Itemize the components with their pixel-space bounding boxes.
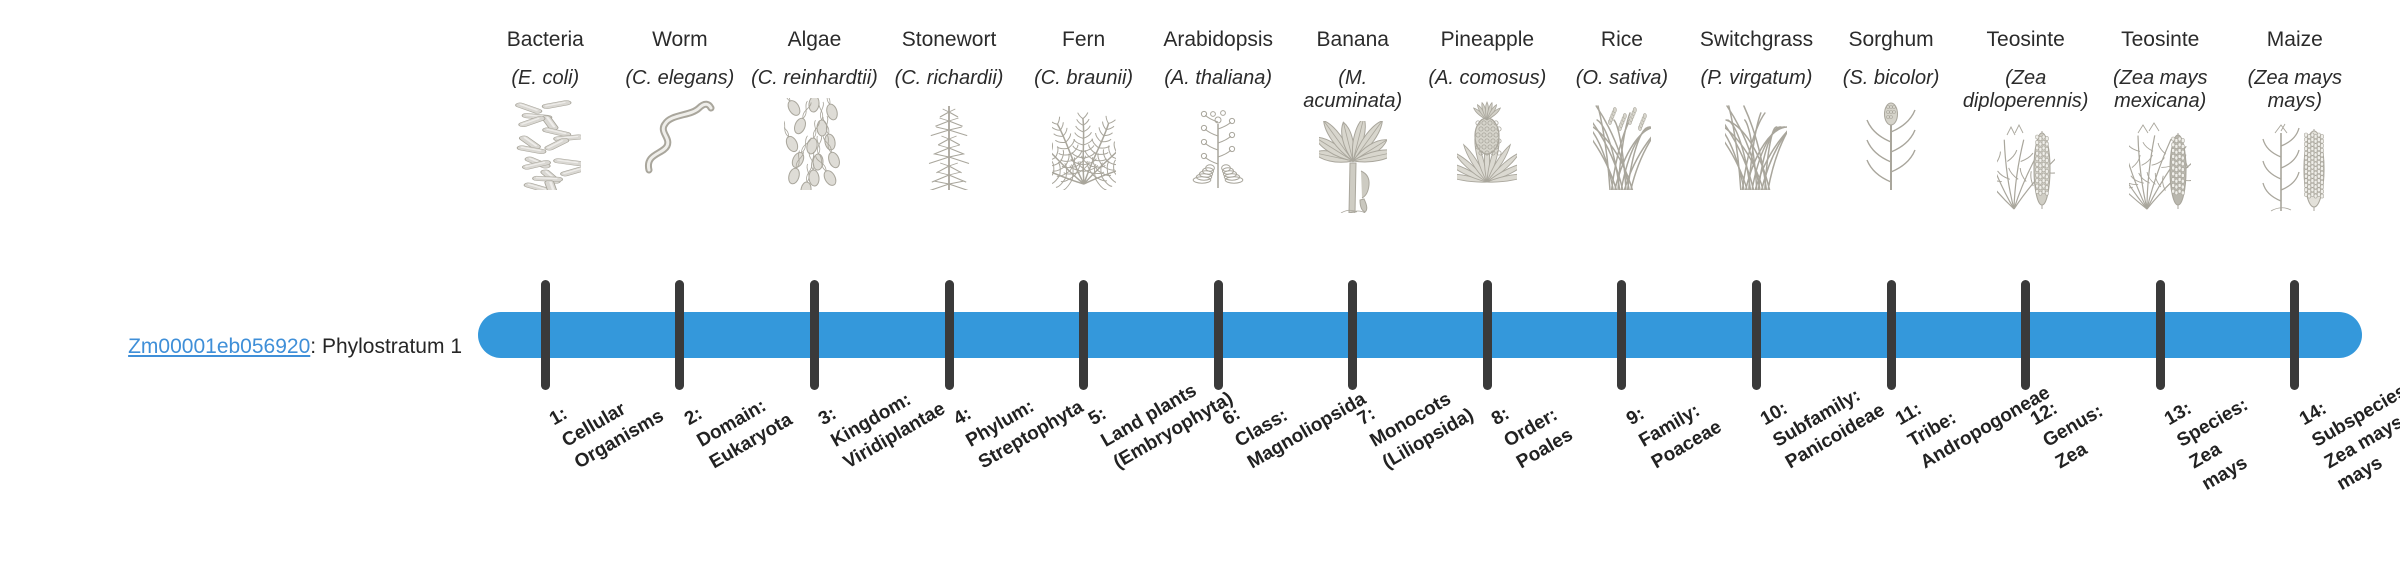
taxonomy-slot-9: 9:Family:Poaceae: [1555, 404, 1690, 580]
species-scientific-name: (P. virgatum): [1701, 67, 1813, 90]
switchgrass-illustration: [1725, 98, 1787, 190]
taxonomy-slot-13: 13:Species:Zeamays: [2093, 404, 2228, 580]
banana-plant-illustration: [1319, 121, 1387, 213]
species-column-algae-3: Algae(C. reinhardtii): [747, 28, 882, 298]
timeline-tick-3[interactable]: [810, 280, 819, 390]
pineapple-plant-illustration: [1457, 98, 1517, 190]
taxonomy-slot-3: 3:Kingdom:Viridiplantae: [747, 404, 882, 580]
timeline-tick-5[interactable]: [1079, 280, 1088, 390]
timeline-tick-2[interactable]: [675, 280, 684, 390]
timeline-tick-13[interactable]: [2156, 280, 2165, 390]
species-column-teosinte-12: Teosinte(Zea diploperennis): [1958, 28, 2093, 298]
teosinte-diploperennis-illustration: [1997, 121, 2055, 213]
species-scientific-name: (Zea mays mexicana): [2095, 67, 2225, 113]
tick-slot-3: [747, 280, 882, 390]
taxonomy-slot-2: 2:Domain:Eukaryota: [613, 404, 748, 580]
species-scientific-name: (C. reinhardtii): [751, 67, 878, 90]
nematode-worm-illustration: [641, 98, 719, 190]
bacteria-illustration: [509, 98, 581, 190]
species-common-name: Banana: [1317, 28, 1389, 56]
taxonomy-slot-4: 4:Phylum:Streptophyta: [882, 404, 1017, 580]
gene-id-link[interactable]: Zm00001eb056920: [128, 335, 310, 358]
arabidopsis-illustration: [1188, 98, 1248, 190]
green-algae-illustration: [784, 98, 844, 190]
timeline-tick-11[interactable]: [1887, 280, 1896, 390]
species-scientific-name: (S. bicolor): [1843, 67, 1940, 90]
taxonomy-slot-10: 10:Subfamily:Panicoideae: [1689, 404, 1824, 580]
taxonomy-slot-7: 7:Monocots(Liliopsida): [1285, 404, 1420, 580]
phylostratum-value: Phylostratum 1: [322, 335, 462, 358]
species-column-worm-2: Worm(C. elegans): [613, 28, 748, 298]
tick-slot-14: [2228, 280, 2363, 390]
timeline-tick-14[interactable]: [2290, 280, 2299, 390]
taxonomy-slot-11: 11:Tribe:Andropogoneae: [1824, 404, 1959, 580]
tick-slot-1: [478, 280, 613, 390]
species-scientific-name: (E. coli): [511, 67, 579, 90]
species-column-bacteria-1: Bacteria(E. coli): [478, 28, 613, 298]
tick-slot-13: [2093, 280, 2228, 390]
species-scientific-name: (M. acuminata): [1288, 67, 1418, 113]
species-column-banana-7: Banana(M. acuminata): [1285, 28, 1420, 298]
species-common-name: Arabidopsis: [1163, 28, 1273, 56]
species-scientific-name: (C. richardii): [895, 67, 1004, 90]
timeline-tick-1[interactable]: [541, 280, 550, 390]
gene-label-separator: :: [310, 335, 322, 358]
gene-phylostratum-label: Zm00001eb056920: Phylostratum 1: [0, 334, 462, 360]
species-scientific-name: (C. elegans): [625, 67, 734, 90]
species-column-teosinte-13: Teosinte(Zea mays mexicana): [2093, 28, 2228, 298]
species-common-name: Worm: [652, 28, 708, 56]
species-common-name: Algae: [788, 28, 842, 56]
species-scientific-name: (C. braunii): [1034, 67, 1133, 90]
species-scientific-name: (O. sativa): [1576, 67, 1668, 90]
species-column-maize-14: Maize(Zea mays mays): [2228, 28, 2363, 298]
taxonomy-slot-14: 14:Subspecies:Zea maysmays: [2228, 404, 2363, 580]
species-common-name: Switchgrass: [1700, 28, 1813, 56]
phylostratum-timeline-figure: Zm00001eb056920: Phylostratum 1 Bacteria…: [0, 0, 2400, 580]
taxonomy-slot-12: 12:Genus:Zea: [1958, 404, 2093, 580]
taxonomy-slot-6: 6:Class:Magnoliopsida: [1151, 404, 1286, 580]
species-common-name: Teosinte: [1987, 28, 2065, 56]
species-common-name: Teosinte: [2121, 28, 2199, 56]
tick-slot-10: [1689, 280, 1824, 390]
taxonomy-slot-5: 5:Land plants(Embryophyta): [1016, 404, 1151, 580]
species-column-arabidopsis-6: Arabidopsis(A. thaliana): [1151, 28, 1286, 298]
rice-plant-illustration: [1593, 98, 1651, 190]
timeline-tick-9[interactable]: [1617, 280, 1626, 390]
species-common-name: Maize: [2267, 28, 2323, 56]
maize-plant-and-ear-illustration: [2261, 121, 2329, 213]
species-common-name: Bacteria: [507, 28, 584, 56]
taxonomy-rank-row: 1:CellularOrganisms2:Domain:Eukaryota3:K…: [478, 404, 2362, 580]
species-scientific-name: (A. comosus): [1428, 67, 1546, 90]
sorghum-plant-illustration: [1861, 98, 1921, 190]
phylostratum-timeline: [478, 312, 2362, 358]
species-column-fern-5: Fern(C. braunii): [1016, 28, 1151, 298]
species-scientific-name: (A. thaliana): [1164, 67, 1272, 90]
species-column-stonewort-4: Stonewort(C. richardii): [882, 28, 1017, 298]
taxonomy-slot-1: 1:CellularOrganisms: [478, 404, 613, 580]
taxonomy-slot-8: 8:Order:Poales: [1420, 404, 1555, 580]
species-common-name: Fern: [1062, 28, 1105, 56]
fern-illustration: [1052, 98, 1116, 190]
tick-slot-9: [1555, 280, 1690, 390]
timeline-tick-8[interactable]: [1483, 280, 1492, 390]
teosinte-mexicana-illustration: [2129, 121, 2191, 213]
species-scientific-name: (Zea mays mays): [2230, 67, 2360, 113]
species-column-row: Bacteria(E. coli)Worm(C. elegans)Algae(C…: [478, 28, 2362, 298]
species-common-name: Stonewort: [902, 28, 997, 56]
species-column-sorghum-11: Sorghum(S. bicolor): [1824, 28, 1959, 298]
species-common-name: Pineapple: [1441, 28, 1534, 56]
species-column-pineapple-8: Pineapple(A. comosus): [1420, 28, 1555, 298]
timeline-tick-10[interactable]: [1752, 280, 1761, 390]
species-column-switchgrass-10: Switchgrass(P. virgatum): [1689, 28, 1824, 298]
species-scientific-name: (Zea diploperennis): [1961, 67, 2091, 113]
species-column-rice-9: Rice(O. sativa): [1555, 28, 1690, 298]
timeline-tick-4[interactable]: [945, 280, 954, 390]
stonewort-illustration: [919, 98, 979, 190]
species-common-name: Rice: [1601, 28, 1643, 56]
species-common-name: Sorghum: [1848, 28, 1933, 56]
